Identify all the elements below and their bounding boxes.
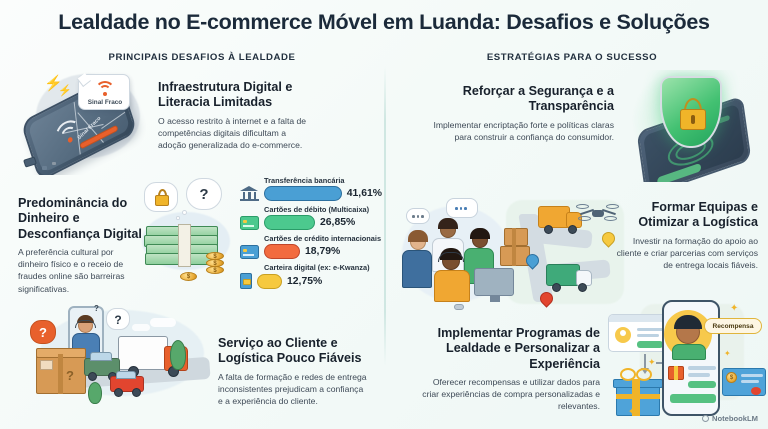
truck-wheel bbox=[568, 225, 577, 234]
reward-badge: Recompensa bbox=[704, 318, 762, 334]
gift-icon-ribbon bbox=[674, 366, 678, 380]
chart-value-label: 12,75% bbox=[287, 276, 322, 287]
challenge-1-body: O acesso restrito à internet e a falta d… bbox=[158, 115, 310, 152]
list-action-button[interactable] bbox=[670, 394, 716, 403]
chart-category-label: Cartões de crédito internacionais bbox=[264, 234, 382, 243]
credit-card-graphic: $ bbox=[722, 368, 766, 396]
wallet-glyph bbox=[243, 279, 251, 285]
card-text-line bbox=[637, 328, 665, 331]
typing-dots bbox=[412, 215, 424, 218]
team-member-hair bbox=[438, 218, 458, 229]
debit-card-icon bbox=[240, 216, 259, 230]
gift-ribbon bbox=[616, 394, 660, 399]
headset-icon bbox=[75, 320, 96, 328]
drone-rotor bbox=[576, 204, 589, 209]
strategy-2-text: Formar Equipas e Otimizar a Logística In… bbox=[614, 200, 758, 271]
profile-card bbox=[608, 314, 670, 352]
card-text-line bbox=[741, 374, 763, 377]
car-wheel bbox=[132, 388, 141, 397]
card-chip bbox=[243, 220, 247, 224]
notebooklm-icon bbox=[702, 415, 709, 422]
coin-single: $ bbox=[180, 272, 197, 281]
team-member-torso bbox=[402, 250, 432, 288]
chart-bar bbox=[264, 215, 315, 230]
car-window bbox=[116, 371, 136, 379]
chart-row: Cartões de crédito internacionais 18,79% bbox=[240, 234, 382, 259]
thought-dot bbox=[176, 216, 180, 220]
strategy-1-body: Implementar encriptação forte e política… bbox=[430, 119, 614, 143]
illustration-delivery-logistics: ? ? ? ? bbox=[22, 300, 212, 412]
monitor bbox=[474, 268, 514, 296]
illustration-loyalty-rewards: Recompensa $ ✦ ✦ ✦ ✦ bbox=[600, 300, 768, 424]
payment-methods-chart: Transferência bancária 41,61% Cartões de… bbox=[240, 176, 382, 289]
challenge-2-text: Predominância do Dinheiro e Desconfiança… bbox=[18, 196, 144, 295]
strategy-3-title: Implementar Programas de Lealdade e Pers… bbox=[420, 326, 600, 372]
truck-wheel bbox=[544, 225, 553, 234]
bank-base bbox=[240, 199, 259, 201]
chart-value-label: 41,61% bbox=[347, 188, 382, 199]
question-mark-small: ? bbox=[94, 304, 99, 313]
padlock-keyhole bbox=[691, 115, 695, 124]
monitor-stand bbox=[490, 296, 500, 302]
tree bbox=[170, 340, 186, 370]
challenge-3-title: Serviço ao Cliente e Logística Pouco Fiá… bbox=[218, 336, 368, 367]
chart-category-label: Carteira digital (ex: e-Kwanza) bbox=[264, 263, 382, 272]
illustration-team-logistics bbox=[398, 192, 628, 316]
car-wheel bbox=[114, 388, 123, 397]
chart-category-label: Transferência bancária bbox=[264, 176, 382, 185]
challenge-3-body: A falta de formação e redes de entrega i… bbox=[218, 371, 368, 408]
chart-row: Transferência bancária 41,61% bbox=[240, 176, 382, 201]
truck-wheel bbox=[552, 283, 561, 292]
callout-label: Sinal Fraco bbox=[79, 99, 131, 106]
customer-torso bbox=[672, 344, 706, 360]
phone-debris bbox=[52, 162, 56, 165]
card-text-line bbox=[637, 334, 659, 337]
strategy-3-body: Oferecer recompensas e utilizar dados pa… bbox=[420, 376, 600, 413]
challenge-1-text: Infraestrutura Digital e Literacia Limit… bbox=[158, 80, 310, 151]
bank-icon bbox=[240, 186, 259, 201]
illustration-security-shield bbox=[620, 70, 768, 182]
package-question-mark: ? bbox=[66, 368, 74, 383]
sparkle-icon: ✦ bbox=[730, 304, 738, 314]
bank-roof bbox=[240, 186, 258, 191]
package-tape bbox=[512, 246, 516, 266]
challenge-3-text: Serviço ao Cliente e Logística Pouco Fiá… bbox=[218, 336, 368, 407]
truck-wheel bbox=[578, 283, 587, 292]
padlock-bubble bbox=[144, 182, 178, 212]
bank-column bbox=[248, 192, 250, 199]
chart-value-label: 18,79% bbox=[305, 246, 340, 257]
gift-bow bbox=[620, 368, 636, 381]
delivery-truck-cargo bbox=[546, 264, 580, 286]
challenge-2-body: A preferência cultural por dinheiro físi… bbox=[18, 246, 144, 295]
bank-column bbox=[243, 192, 245, 199]
card-stripe bbox=[243, 254, 254, 256]
car-wheel bbox=[88, 372, 97, 381]
weak-signal-callout: Sinal Fraco bbox=[78, 74, 130, 110]
footer-watermark: NotebookLM bbox=[702, 414, 758, 423]
package-tape bbox=[512, 228, 516, 246]
package-tape bbox=[58, 354, 63, 394]
mobile-wallet-icon bbox=[240, 273, 252, 289]
strategy-3-text: Implementar Programas de Lealdade e Pers… bbox=[420, 326, 600, 413]
team-member-hair bbox=[408, 230, 428, 242]
gift-bow bbox=[636, 368, 652, 381]
illustration-cracked-phone: Sinal Fraco ⚡ ⚡ Sinal Fraco bbox=[8, 70, 158, 175]
car-window bbox=[90, 352, 112, 361]
team-member-hair bbox=[470, 228, 490, 239]
strategy-1-text: Reforçar a Segurança e a Transparência I… bbox=[430, 84, 614, 143]
package-box bbox=[504, 228, 528, 246]
strategy-2-body: Investir na formação do apoio ao cliente… bbox=[614, 235, 758, 272]
headset-icon bbox=[438, 252, 464, 262]
page-title: Lealdade no E-commerce Móvel em Luanda: … bbox=[0, 10, 768, 35]
typing-dots bbox=[455, 207, 467, 210]
list-text-line bbox=[688, 373, 710, 377]
phone-debris bbox=[42, 166, 47, 170]
sparkle-icon: ✦ bbox=[648, 358, 656, 367]
cloud bbox=[150, 318, 176, 327]
chart-row: Cartões de débito (Multicaixa) 26,85% bbox=[240, 205, 382, 230]
coin-stack: $ bbox=[206, 266, 224, 274]
list-text-line bbox=[688, 366, 716, 370]
strategy-1-title: Reforçar a Segurança e a Transparência bbox=[430, 84, 614, 115]
thought-dot bbox=[182, 210, 187, 215]
wifi-dot bbox=[103, 92, 107, 96]
cloud bbox=[132, 324, 150, 331]
mouse bbox=[454, 304, 464, 310]
challenge-1-title: Infraestrutura Digital e Literacia Limit… bbox=[158, 80, 310, 111]
question-bubble-red: ? bbox=[30, 320, 56, 344]
chart-category-label: Cartões de débito (Multicaixa) bbox=[264, 205, 382, 214]
card-action-button[interactable] bbox=[637, 341, 663, 348]
strategy-2-title: Formar Equipas e Otimizar a Logística bbox=[614, 200, 758, 231]
chart-bar bbox=[257, 274, 282, 289]
watermark-label: NotebookLM bbox=[712, 414, 758, 423]
drone-rotor bbox=[578, 216, 591, 221]
card-chip bbox=[751, 387, 761, 395]
drone-body bbox=[592, 210, 604, 217]
infographic-canvas: Lealdade no E-commerce Móvel em Luanda: … bbox=[0, 0, 768, 429]
column-divider bbox=[384, 66, 386, 366]
padlock-body-icon bbox=[155, 195, 169, 206]
illustration-cash-distrust: ? $ $ $ $ bbox=[138, 178, 234, 300]
chart-bar bbox=[264, 186, 342, 201]
team-member-torso bbox=[434, 270, 470, 302]
question-bubble-white: ? bbox=[106, 308, 130, 330]
avatar-glyph bbox=[620, 330, 626, 336]
sparkle-icon: ✦ bbox=[628, 408, 635, 416]
chat-bubble bbox=[406, 208, 430, 224]
left-column-heading: PRINCIPAIS DESAFIOS À LEALDADE bbox=[22, 52, 382, 63]
package-label bbox=[40, 360, 53, 370]
tree bbox=[88, 382, 102, 404]
banknote-band bbox=[178, 224, 191, 267]
gift-illustration bbox=[612, 366, 664, 418]
coin-icon: $ bbox=[726, 372, 737, 383]
card-chip bbox=[243, 249, 247, 253]
chart-value-label: 26,85% bbox=[320, 217, 355, 228]
list-action-button[interactable] bbox=[688, 381, 716, 388]
question-thought-bubble: ? bbox=[186, 178, 222, 210]
bank-column bbox=[254, 192, 256, 199]
card-stripe bbox=[243, 225, 254, 227]
chart-bar bbox=[264, 244, 300, 259]
card-text-line bbox=[741, 380, 759, 383]
challenge-2-title: Predominância do Dinheiro e Desconfiança… bbox=[18, 196, 144, 242]
chart-row: Carteira digital (ex: e-Kwanza) 12,75% bbox=[240, 263, 382, 289]
right-column-heading: ESTRATÉGIAS PARA O SUCESSO bbox=[392, 52, 752, 63]
credit-card-icon bbox=[240, 245, 259, 259]
delivery-truck-cargo bbox=[118, 336, 168, 370]
chat-bubble bbox=[446, 198, 478, 218]
sparkle-icon: ✦ bbox=[724, 350, 731, 358]
